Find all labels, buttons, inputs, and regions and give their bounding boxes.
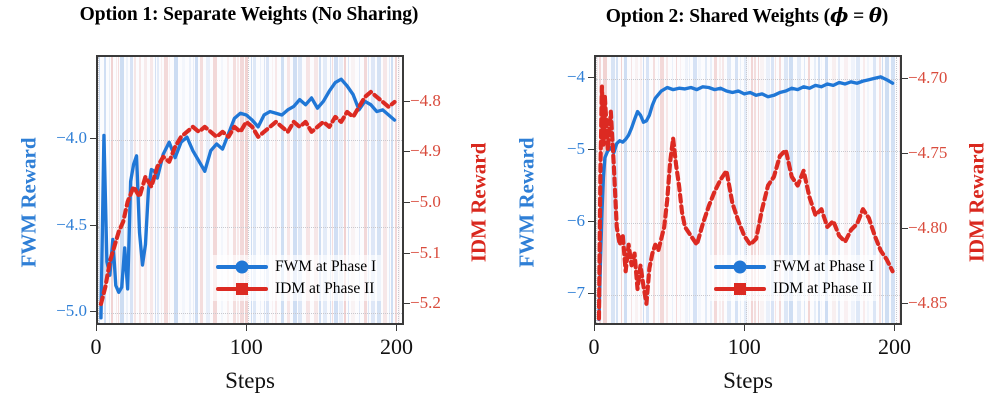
ytick-right: −5.0	[410, 192, 441, 212]
figure-root: Option 1: Separate Weights (No Sharing) …	[0, 0, 996, 413]
title-suffix: )	[882, 6, 888, 27]
ytick-right: −4.85	[908, 293, 947, 313]
tick-mark	[588, 293, 594, 294]
legend-marker-circle-icon	[714, 260, 766, 274]
ytick-right: −5.2	[410, 293, 441, 313]
legend-label: IDM at Phase II	[773, 280, 872, 298]
tick-mark	[588, 77, 594, 78]
ytick-right: −4.8	[410, 91, 441, 111]
panel-option-1: Option 1: Separate Weights (No Sharing) …	[0, 0, 498, 413]
tick-mark	[90, 138, 96, 139]
tick-mark	[404, 202, 410, 203]
xtick: 0	[91, 334, 102, 360]
tick-mark	[902, 78, 908, 79]
tick-mark	[894, 325, 895, 331]
legend-label: FWM at Phase I	[275, 258, 376, 276]
tick-mark	[96, 325, 97, 331]
ytick-right: −4.9	[410, 141, 441, 161]
x-axis-label: Steps	[96, 368, 404, 394]
legend-marker-square-icon	[714, 282, 766, 296]
tick-mark	[404, 101, 410, 102]
tick-mark	[90, 225, 96, 226]
tick-mark	[90, 311, 96, 312]
panel-title-option-1: Option 1: Separate Weights (No Sharing)	[0, 4, 498, 26]
tick-mark	[588, 149, 594, 150]
tick-mark	[396, 325, 397, 331]
xtick: 100	[728, 334, 761, 360]
ytick-right: −5.1	[410, 243, 441, 263]
ytick-left: −5.0	[56, 301, 94, 321]
xtick: 100	[230, 334, 263, 360]
tick-mark	[902, 153, 908, 154]
ytick-left: −4.5	[56, 215, 94, 235]
theta-symbol: θ	[869, 4, 882, 27]
legend: FWM at Phase I IDM at Phase II	[212, 255, 381, 301]
ytick-right: −4.80	[908, 218, 947, 238]
legend-marker-square-icon	[216, 282, 268, 296]
xtick: 200	[878, 334, 911, 360]
phi-symbol: ϕ	[830, 4, 848, 27]
tick-mark	[246, 325, 247, 331]
tick-mark	[744, 325, 745, 331]
title-prefix: Option 2: Shared Weights (	[606, 6, 830, 27]
ytick-left: −4.0	[56, 128, 94, 148]
x-axis-label: Steps	[594, 368, 902, 394]
tick-mark	[404, 151, 410, 152]
legend-item-idm: IDM at Phase II	[216, 280, 376, 298]
legend-item-fwm: FWM at Phase I	[216, 258, 376, 276]
y-axis-label-left: FWM Reward	[17, 108, 42, 298]
tick-mark	[588, 221, 594, 222]
legend: FWM at Phase I IDM at Phase II	[710, 255, 879, 301]
y-axis-label-left: FWM Reward	[515, 108, 540, 298]
legend-item-fwm: FWM at Phase I	[714, 258, 874, 276]
title-equals: =	[848, 6, 869, 27]
tick-mark	[594, 325, 595, 331]
legend-marker-circle-icon	[216, 260, 268, 274]
xtick: 200	[380, 334, 413, 360]
y-axis-label-right: IDM Reward	[965, 108, 990, 298]
tick-mark	[404, 253, 410, 254]
tick-mark	[902, 303, 908, 304]
ytick-right: −4.75	[908, 143, 947, 163]
panel-option-2: Option 2: Shared Weights (ϕ = θ) −4 −5 −…	[498, 0, 996, 413]
legend-item-idm: IDM at Phase II	[714, 280, 874, 298]
tick-mark	[404, 303, 410, 304]
y-axis-label-right: IDM Reward	[467, 108, 492, 298]
panel-title-option-2: Option 2: Shared Weights (ϕ = θ)	[498, 4, 996, 28]
ytick-right: −4.70	[908, 68, 947, 88]
legend-label: IDM at Phase II	[275, 280, 374, 298]
xtick: 0	[589, 334, 600, 360]
legend-label: FWM at Phase I	[773, 258, 874, 276]
tick-mark	[902, 228, 908, 229]
